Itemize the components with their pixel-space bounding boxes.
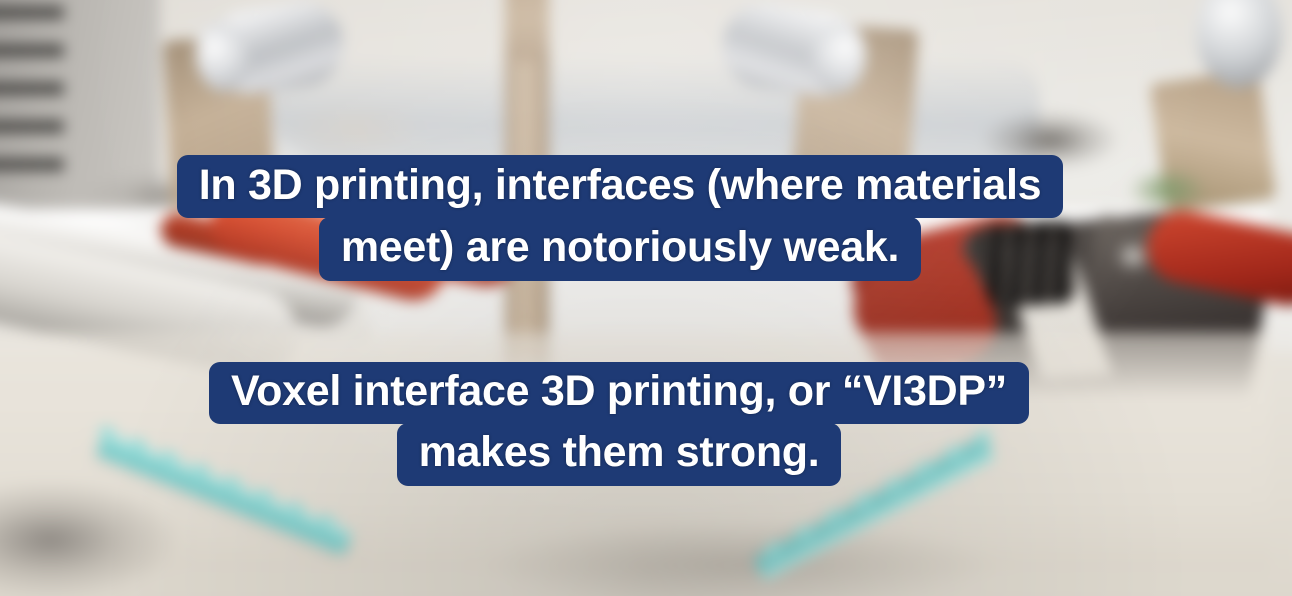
caption-2-line-1: Voxel interface 3D printing, or “VI3DP” [209,362,1029,424]
caption-1-line-1: In 3D printing, interfaces (where materi… [177,155,1064,218]
caption-block-2: Voxel interface 3D printing, or “VI3DP” … [0,362,1238,486]
caption-2-line-2: makes them strong. [397,423,842,486]
caption-block-1: In 3D printing, interfaces (where materi… [0,155,1240,281]
caption-overlay: In 3D printing, interfaces (where materi… [0,0,1292,596]
video-frame: In 3D printing, interfaces (where materi… [0,0,1292,596]
caption-1-line-2: meet) are notoriously weak. [319,217,921,281]
